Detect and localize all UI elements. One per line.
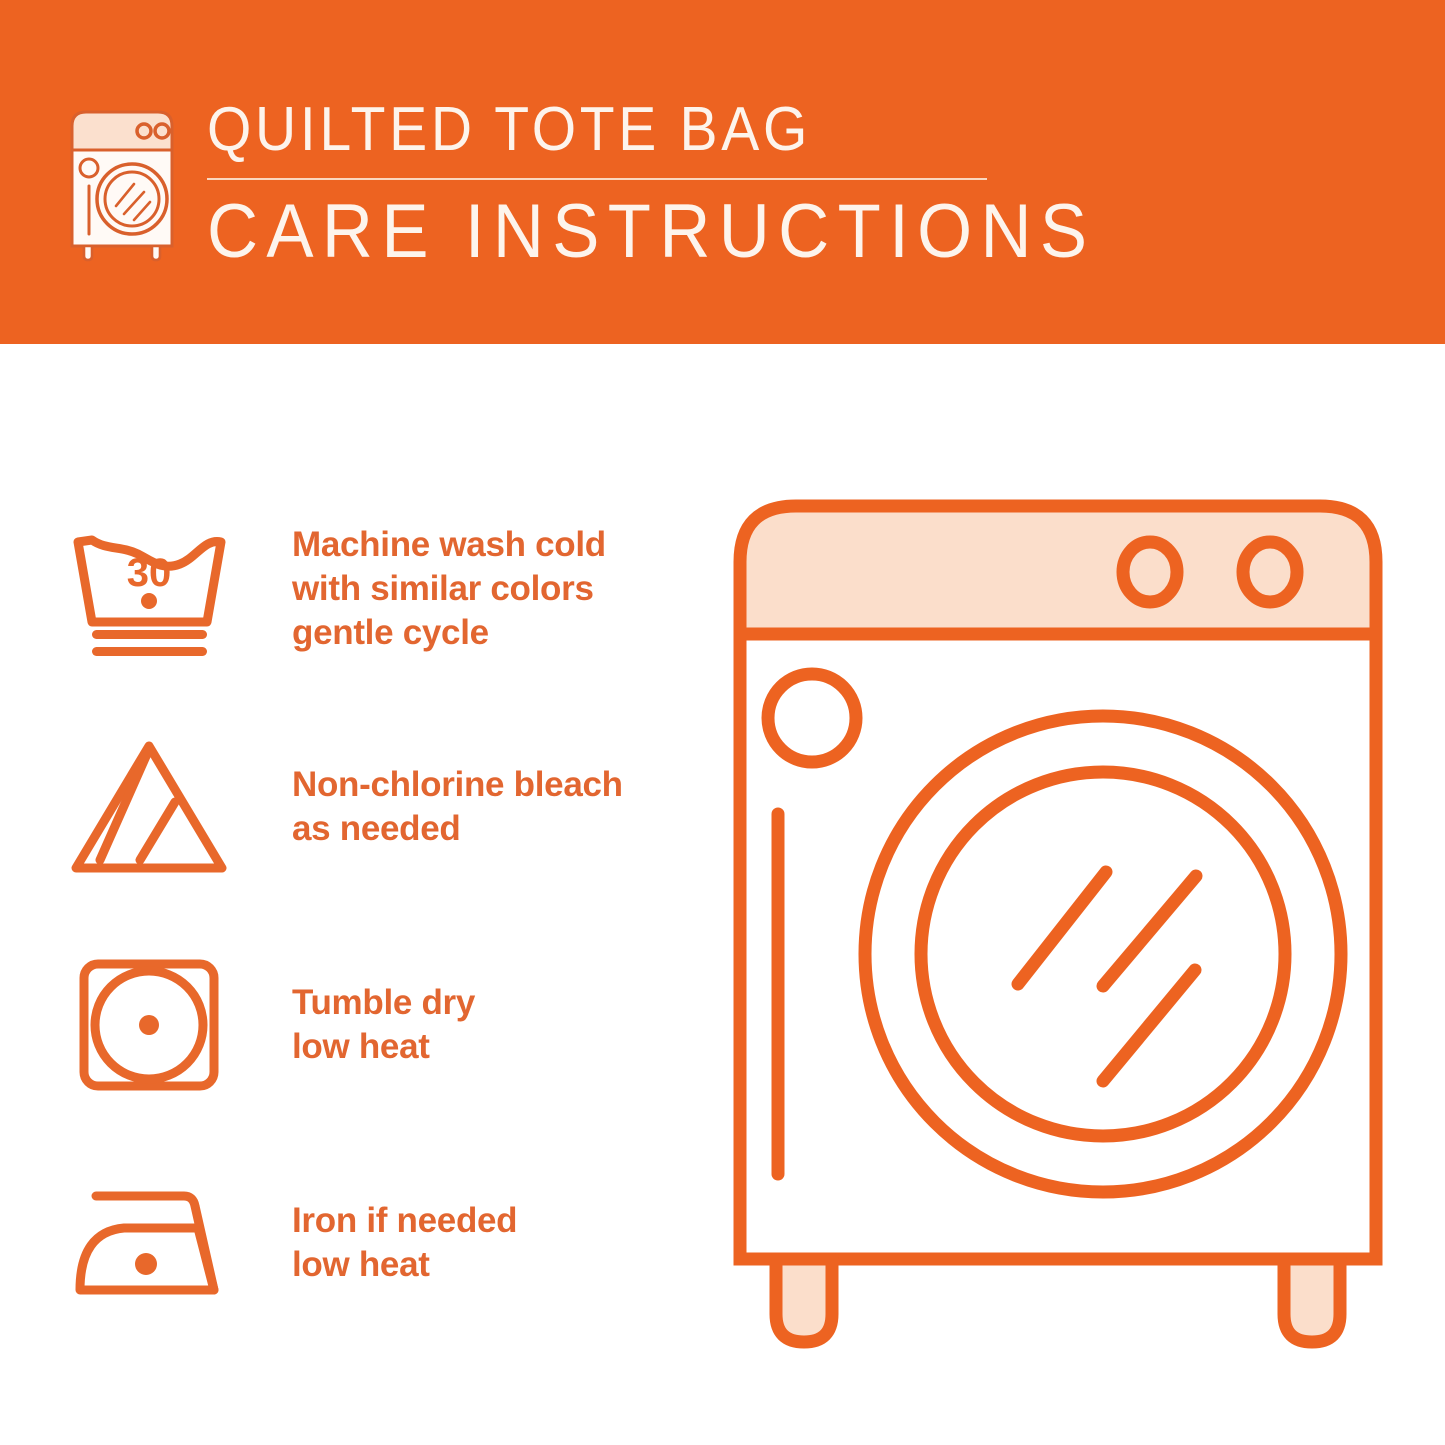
page-subtitle: CARE INSTRUCTIONS (207, 192, 1095, 272)
instruction-line: as needed (292, 807, 623, 851)
instruction-text: Machine wash cold with similar colors ge… (292, 523, 606, 655)
header-banner: QUILTED TOTE BAG CARE INSTRUCTIONS (0, 0, 1445, 344)
header-title-group: QUILTED TOTE BAG CARE INSTRUCTIONS (207, 96, 1162, 272)
list-item: Tumble dry low heat (62, 930, 682, 1120)
washing-machine-logo-icon (62, 104, 182, 264)
instruction-text: Iron if needed low heat (292, 1199, 517, 1287)
instruction-line: low heat (292, 1025, 475, 1069)
title-divider (207, 178, 987, 180)
non-chlorine-bleach-triangle-icon (62, 732, 237, 882)
instruction-line: Tumble dry (292, 981, 475, 1025)
tumble-dry-low-heat-icon (62, 950, 237, 1100)
list-item: Iron if needed low heat (62, 1148, 682, 1338)
instruction-text: Tumble dry low heat (292, 981, 475, 1069)
instruction-line: Iron if needed (292, 1199, 517, 1243)
header-content: QUILTED TOTE BAG CARE INSTRUCTIONS (62, 96, 1162, 272)
instruction-line: with similar colors (292, 567, 606, 611)
machine-wash-30-gentle-icon: 30 (62, 514, 237, 664)
instruction-line: Machine wash cold (292, 523, 606, 567)
instruction-line: Non-chlorine bleach (292, 763, 623, 807)
wash-temperature-label: 30 (127, 551, 172, 595)
iron-low-heat-icon (62, 1168, 237, 1318)
instruction-line: low heat (292, 1243, 517, 1287)
care-instruction-list: 30 Machine wash cold with similar colors… (62, 494, 682, 1366)
list-item: 30 Machine wash cold with similar colors… (62, 494, 682, 684)
content-area: 30 Machine wash cold with similar colors… (0, 344, 1445, 1445)
washing-machine-illustration (718, 484, 1398, 1384)
instruction-text: Non-chlorine bleach as needed (292, 763, 623, 851)
list-item: Non-chlorine bleach as needed (62, 712, 682, 902)
page-title: QUILTED TOTE BAG (207, 96, 811, 168)
instruction-line: gentle cycle (292, 611, 606, 655)
